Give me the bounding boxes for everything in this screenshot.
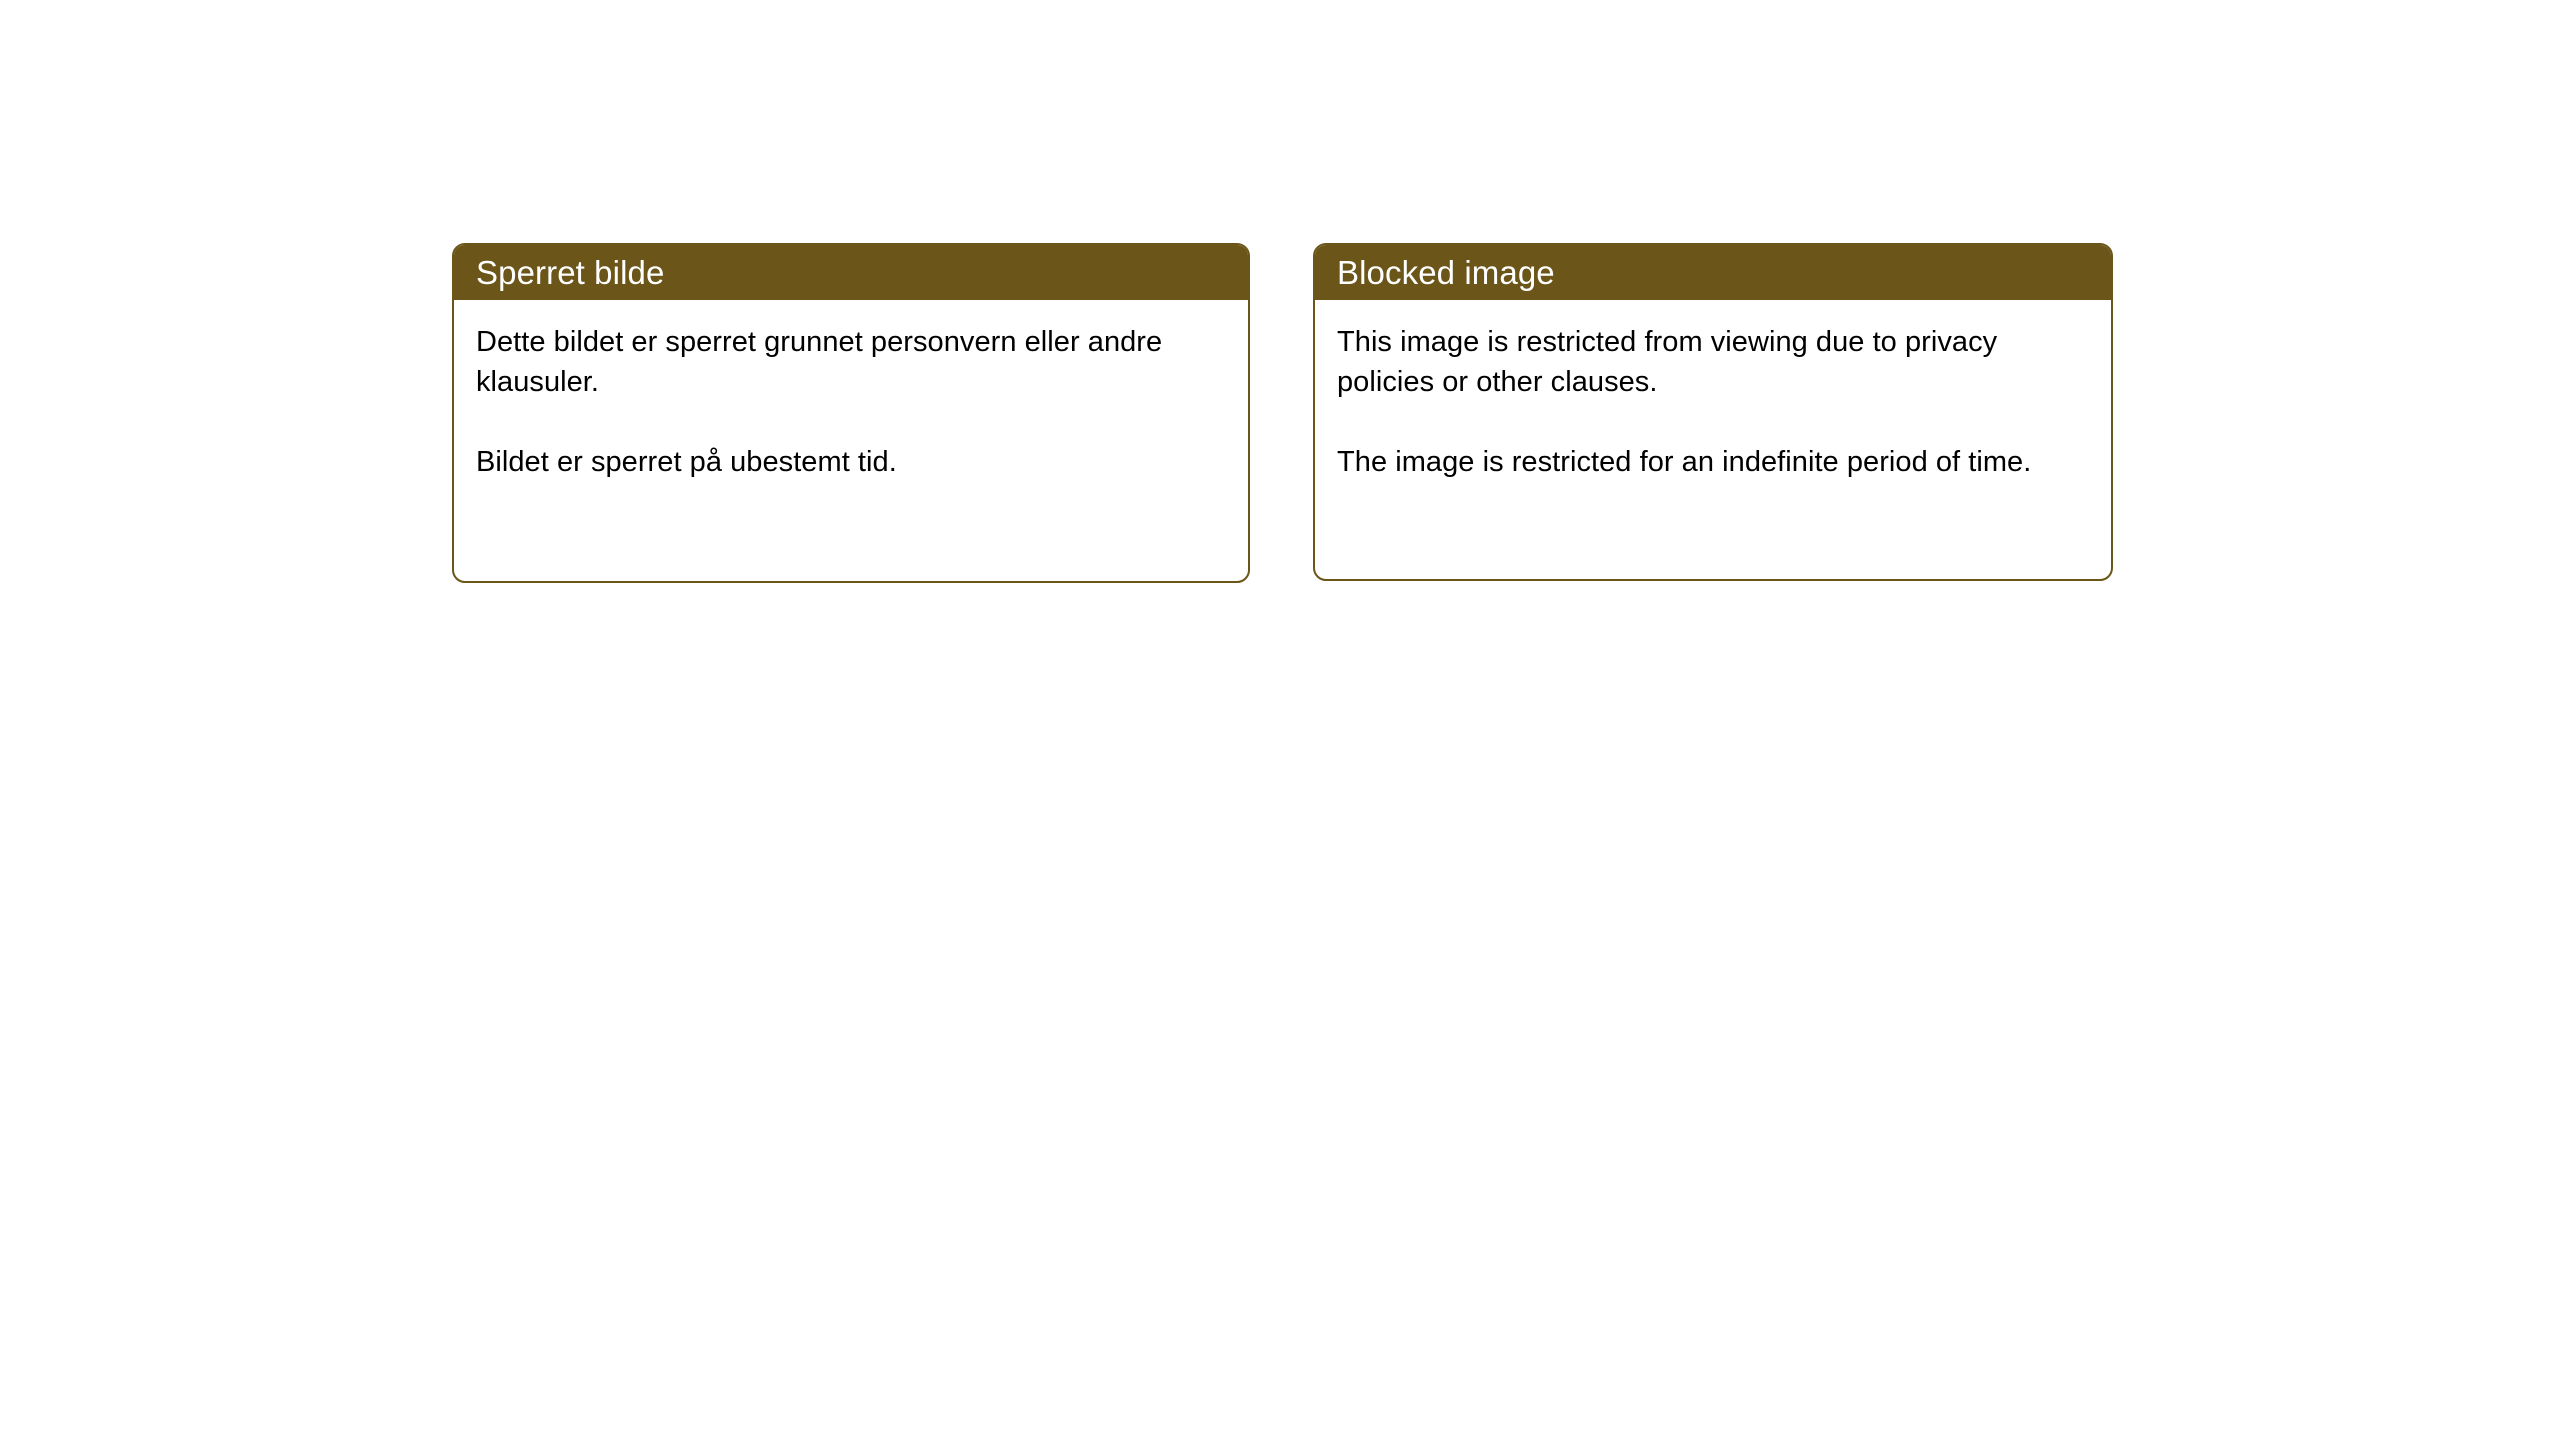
notice-paragraph-duration-english: The image is restricted for an indefinit… <box>1337 442 2037 482</box>
blocked-image-notice-card-english: Blocked image This image is restricted f… <box>1313 243 2113 581</box>
notice-title-norwegian: Sperret bilde <box>476 256 664 289</box>
notice-title-english: Blocked image <box>1337 256 1555 289</box>
blocked-image-notice-card-norwegian: Sperret bilde Dette bildet er sperret gr… <box>452 243 1250 583</box>
notice-paragraph-duration-norwegian: Bildet er sperret på ubestemt tid. <box>476 442 1176 482</box>
notice-header-english: Blocked image <box>1315 245 2111 300</box>
notice-paragraph-reason-english: This image is restricted from viewing du… <box>1337 322 2037 402</box>
notice-body-norwegian: Dette bildet er sperret grunnet personve… <box>454 300 1248 482</box>
notice-header-norwegian: Sperret bilde <box>454 245 1248 300</box>
notice-body-english: This image is restricted from viewing du… <box>1315 300 2111 482</box>
notice-paragraph-reason-norwegian: Dette bildet er sperret grunnet personve… <box>476 322 1176 402</box>
page-canvas: Sperret bilde Dette bildet er sperret gr… <box>0 0 2560 1440</box>
